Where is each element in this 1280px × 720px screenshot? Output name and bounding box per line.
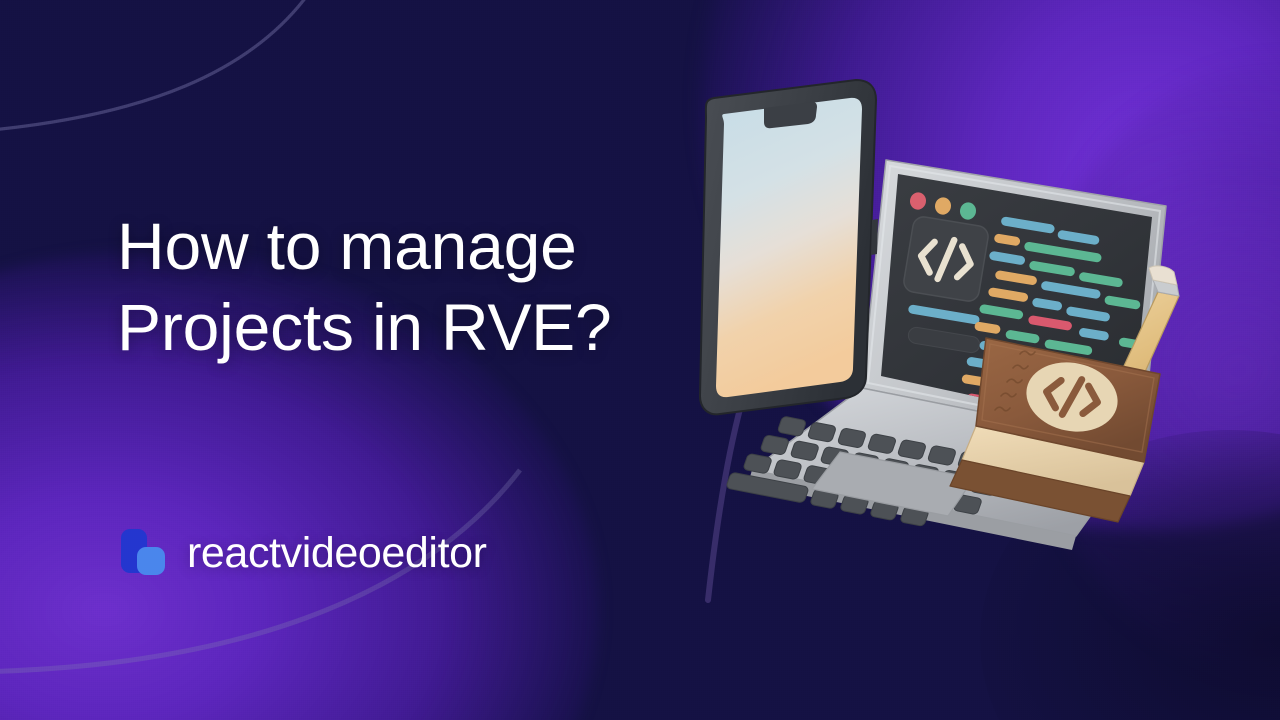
smartphone xyxy=(700,80,878,414)
page-title: How to manage Projects in RVE? xyxy=(117,206,677,367)
brand-wordmark: reactvideoeditor xyxy=(187,532,487,575)
hero-illustration xyxy=(690,80,1220,640)
slide-canvas: How to manage Projects in RVE? reactvide… xyxy=(0,0,1280,720)
reactvideoeditor-logo-icon xyxy=(118,527,170,579)
brand-logo: reactvideoeditor xyxy=(118,527,487,579)
code-icon xyxy=(902,215,989,302)
